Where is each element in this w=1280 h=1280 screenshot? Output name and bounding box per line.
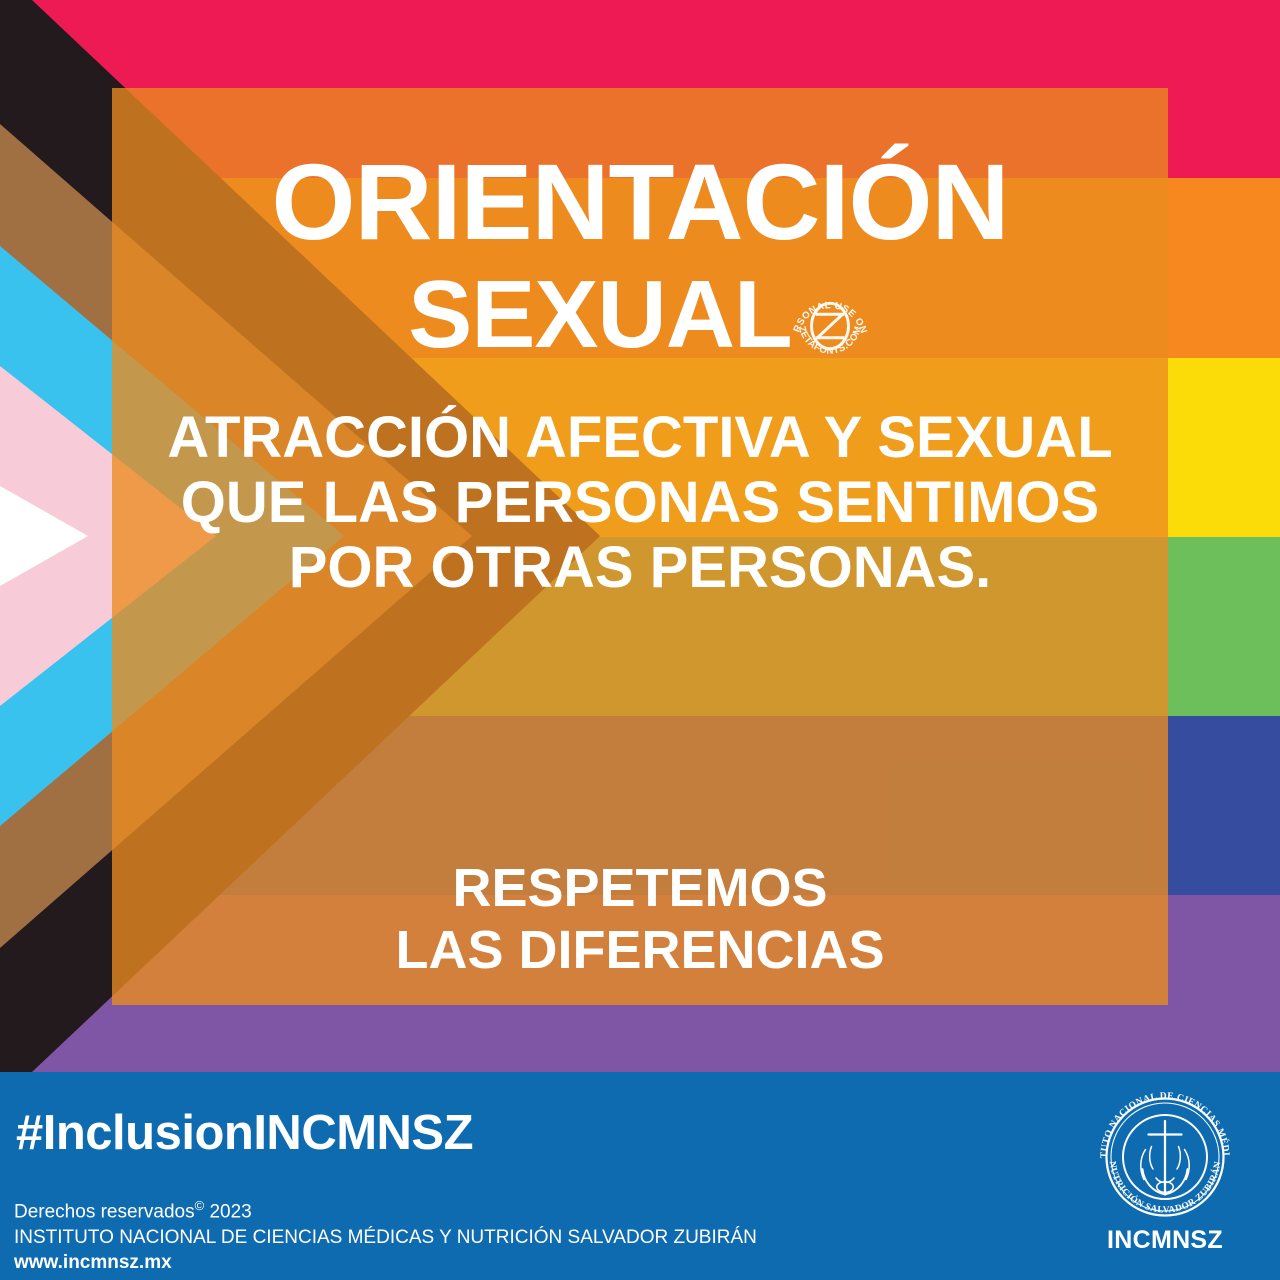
poster-title-sub: SEXUAL [408, 267, 791, 363]
copyright-year: 2023 [209, 1201, 251, 1222]
poster-footer: #InclusionINCMNSZ Derechos reservados© 2… [0, 1072, 1280, 1280]
website-url[interactable]: www.incmnsz.mx [14, 1250, 757, 1275]
institution-brand: INSTITUTO NACIONAL DE CIENCIAS MÉDICAS Y… [1070, 1082, 1260, 1272]
incmnsz-seal-icon: INSTITUTO NACIONAL DE CIENCIAS MÉDICAS Y… [1090, 1082, 1240, 1232]
poster-title-sub-row: SEXUAL PERSONAL USE ONLY ZETAFONTS [142, 262, 1138, 368]
copyright-text: Derechos reservados [14, 1201, 195, 1222]
slogan-line-1: RESPETEMOS [112, 858, 1168, 920]
watermark-bottom-text: ZETAFONTS.COM [796, 325, 864, 357]
institution-name-line: INSTITUTO NACIONAL DE CIENCIAS MÉDICAS Y… [14, 1225, 757, 1250]
campaign-hashtag: #InclusionINCMNSZ [16, 1105, 473, 1161]
zetafonts-watermark-icon: PERSONAL USE ONLY ZETAFONTS.COM [788, 284, 872, 368]
slogan-line-2: LAS DIFERENCIAS [112, 920, 1168, 982]
poster-title-main: ORIENTACIÓN [142, 148, 1138, 256]
poster-definition-text: ATRACCIÓN AFECTIVA Y SEXUAL QUE LAS PERS… [142, 406, 1138, 601]
poster-content: ORIENTACIÓN SEXUAL PERSONAL USE ONLY [112, 88, 1168, 1005]
seal-ring-text: INSTITUTO NACIONAL DE CIENCIAS MÉDICAS Y [1090, 1082, 1231, 1158]
copyright-symbol: © [195, 1198, 205, 1213]
copyright-line: Derechos reservados© 2023 [14, 1197, 757, 1225]
poster-slogan: RESPETEMOS LAS DIFERENCIAS [112, 858, 1168, 981]
legal-block: Derechos reservados© 2023 INSTITUTO NACI… [14, 1197, 757, 1276]
svg-text:ZETAFONTS.COM: ZETAFONTS.COM [796, 325, 864, 357]
pride-awareness-poster: ORIENTACIÓN SEXUAL PERSONAL USE ONLY [0, 0, 1280, 1280]
svg-text:INSTITUTO NACIONAL DE CIENCIAS: INSTITUTO NACIONAL DE CIENCIAS MÉDICAS Y [1090, 1082, 1231, 1158]
institution-acronym: INCMNSZ [1070, 1226, 1260, 1255]
